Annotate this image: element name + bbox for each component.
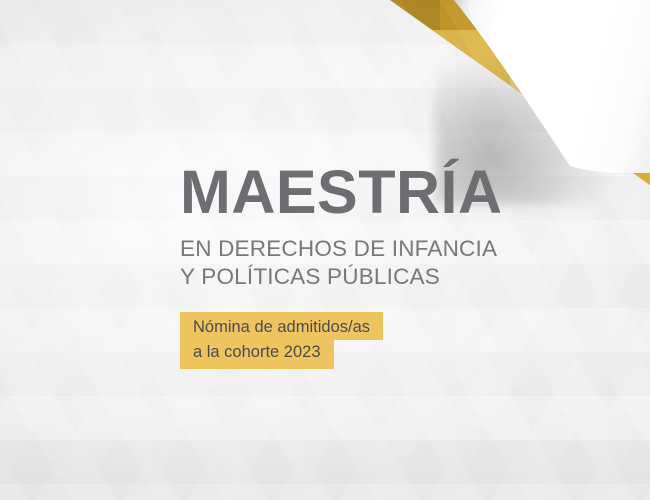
caption-line-2: a la cohorte 2023 (180, 340, 334, 370)
page-title: MAESTRÍA (180, 162, 620, 223)
headline-block: MAESTRÍA EN DERECHOS DE INFANCIA Y POLÍT… (180, 162, 620, 291)
caption-highlight-block: Nómina de admitidos/as a la cohorte 2023 (180, 312, 383, 369)
page-subtitle: EN DERECHOS DE INFANCIA Y POLÍTICAS PÚBL… (180, 235, 620, 291)
caption-line-1: Nómina de admitidos/as (180, 312, 383, 340)
promotional-banner: MAESTRÍA EN DERECHOS DE INFANCIA Y POLÍT… (0, 0, 650, 500)
